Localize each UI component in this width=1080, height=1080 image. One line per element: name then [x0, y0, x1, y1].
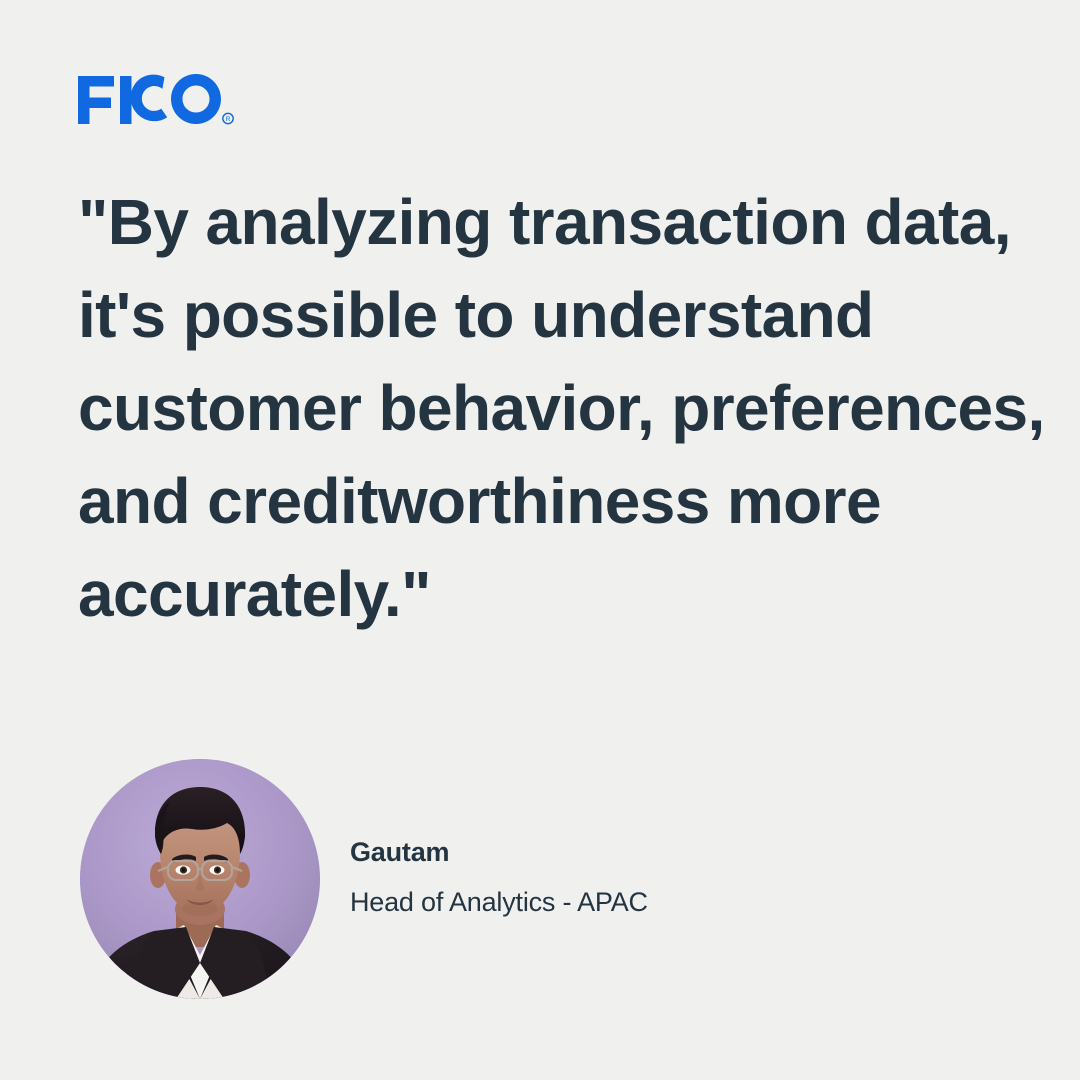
quote-line: accurately." [78, 548, 1028, 641]
quote-card: R "By analyzing transaction data, it's p… [0, 0, 1080, 1080]
person-info: Gautam Head of Analytics - APAC [350, 833, 648, 925]
avatar [80, 759, 320, 999]
person-name: Gautam [350, 833, 648, 871]
person-title: Head of Analytics - APAC [350, 883, 648, 921]
fico-logo: R [78, 74, 238, 130]
quote-line: and creditworthiness more [78, 455, 1028, 548]
attribution: Gautam Head of Analytics - APAC [80, 758, 780, 1000]
svg-text:R: R [226, 116, 231, 123]
quote-line: "By analyzing transaction data, [78, 176, 1028, 269]
quote-text: "By analyzing transaction data, it's pos… [78, 176, 1028, 641]
quote-line: it's possible to understand [78, 269, 1028, 362]
quote-line: customer behavior, preferences, [78, 362, 1028, 455]
